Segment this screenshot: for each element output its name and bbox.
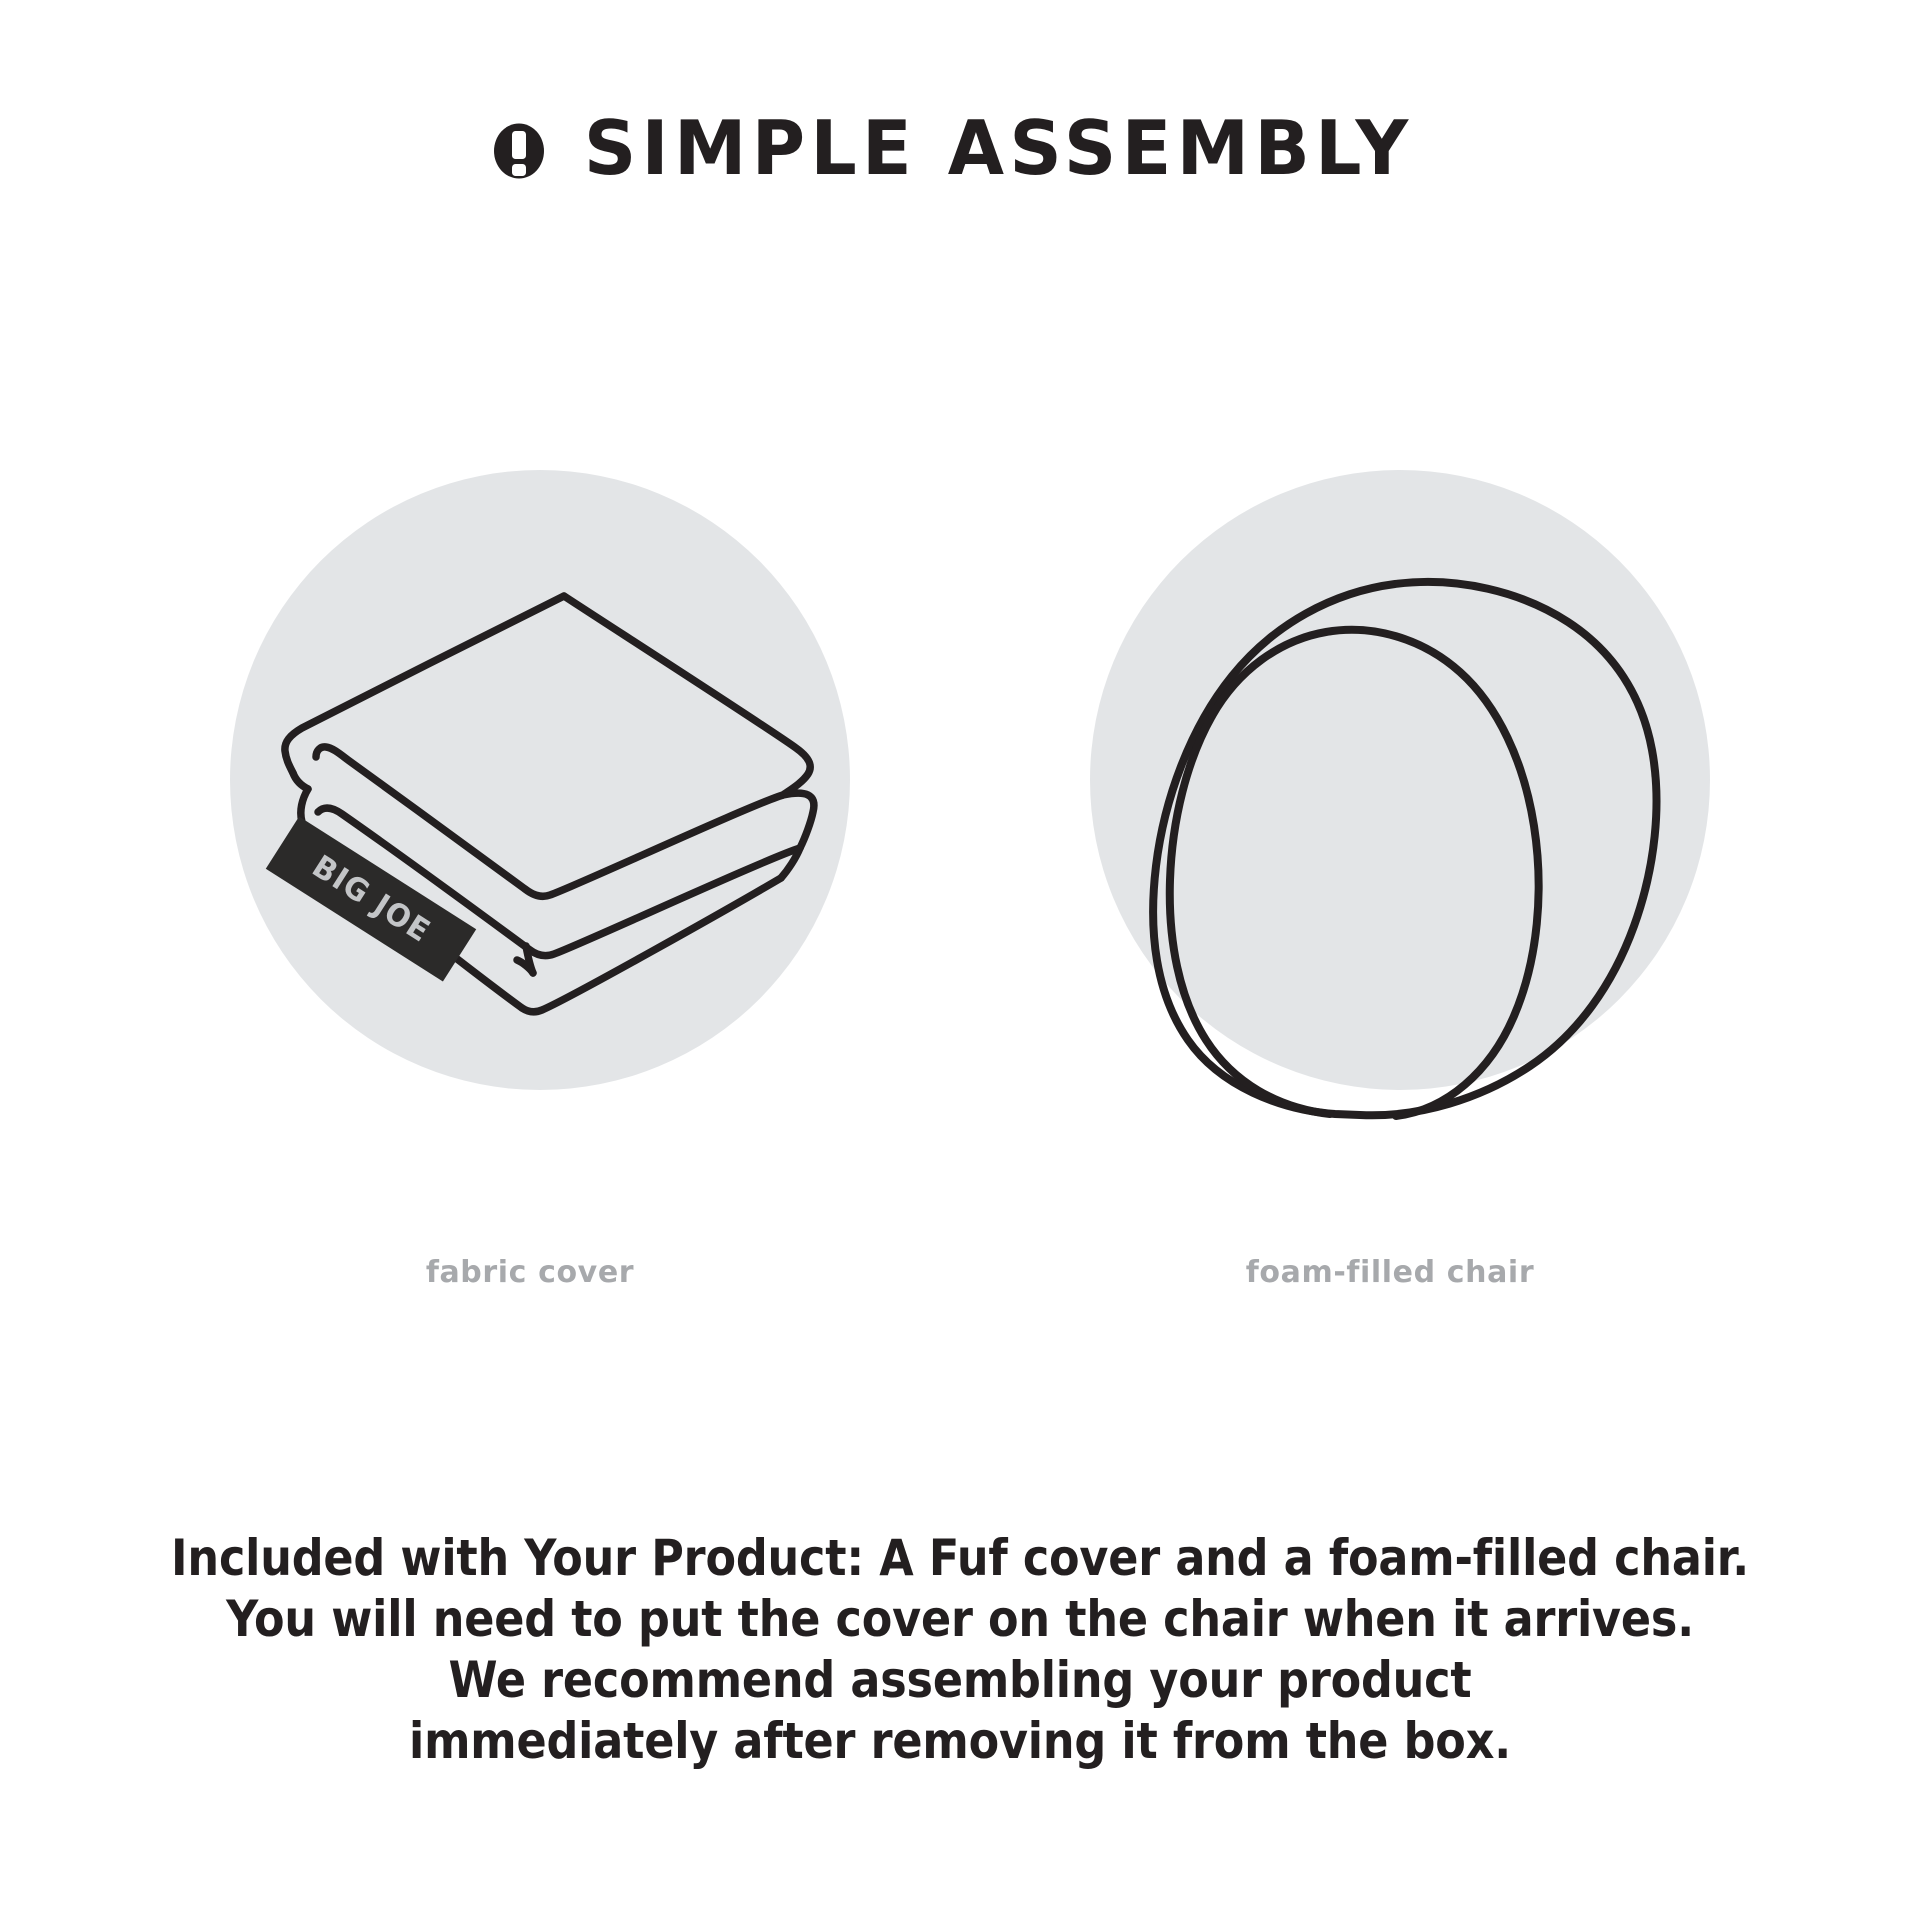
simple-assembly-panel: SIMPLE ASSEMBLY	[0, 0, 1920, 1920]
folded-fabric-cover-illustration	[230, 470, 850, 1090]
instructions-line-4: immediately after removing it from the b…	[106, 1711, 1815, 1772]
assembly-instructions: Included with Your Product: A Fuf cover …	[0, 1528, 1920, 1772]
page-title: SIMPLE ASSEMBLY	[584, 108, 1414, 188]
fabric-cover-disc: BIG JOE	[230, 470, 850, 1090]
instructions-line-3: We recommend assembling your product	[106, 1650, 1815, 1711]
page-heading: SIMPLE ASSEMBLY	[0, 108, 1920, 188]
foam-filled-chair-caption: foam-filled chair	[1060, 1255, 1720, 1290]
illustration-fabric-cover: BIG JOE fabric cover	[200, 470, 860, 1320]
alert-exclamation-circle-icon	[493, 117, 545, 179]
illustration-row: BIG JOE fabric cover foam-filled chai	[0, 470, 1920, 1320]
foam-filled-chair-disc	[1090, 470, 1710, 1090]
instructions-line-1: Included with Your Product: A Fuf cover …	[106, 1528, 1815, 1589]
illustration-foam-filled-chair: foam-filled chair	[1060, 470, 1720, 1320]
instructions-line-2: You will need to put the cover on the ch…	[106, 1589, 1815, 1650]
fabric-cover-caption: fabric cover	[200, 1255, 860, 1290]
foam-filled-chair-illustration	[1090, 470, 1710, 1090]
